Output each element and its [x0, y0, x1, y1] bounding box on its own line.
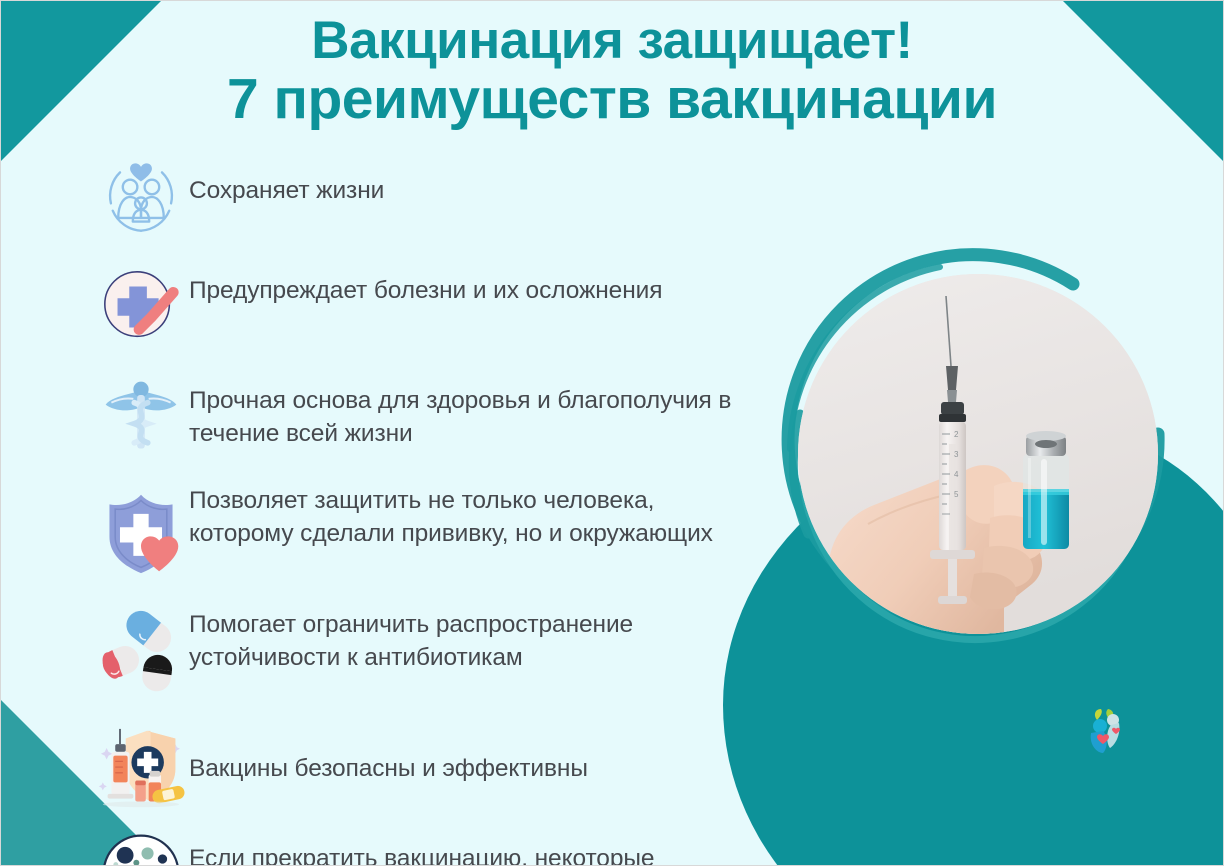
- shield-heart-icon: [93, 479, 189, 587]
- caduceus-icon: [93, 369, 189, 465]
- benefit-item-7: Если прекратить вакцинацию, некоторые ин…: [93, 829, 753, 866]
- benefit-text-5: Помогает ограничить распространение усто…: [189, 601, 753, 675]
- benefit-item-3: Прочная основа для здоровья и благополуч…: [93, 369, 753, 465]
- svg-text:5: 5: [954, 490, 959, 499]
- capsules-icon: [93, 601, 189, 709]
- syringe-shield-icon: [93, 723, 189, 815]
- benefit-text-7: Если прекратить вакцинацию, некоторые ин…: [189, 829, 753, 866]
- virus-petri-dish-icon: [93, 829, 189, 866]
- benefit-text-3: Прочная основа для здоровья и благополуч…: [189, 369, 753, 451]
- photo-frame: 2 3 4 5: [768, 244, 1188, 664]
- title-line-2: 7 преимуществ вакцинации: [151, 69, 1073, 129]
- benefit-item-6: Вакцины безопасны и эффективны: [93, 723, 753, 815]
- benefit-item-2: Предупреждает болезни и их осложнения: [93, 259, 753, 355]
- benefit-text-2: Предупреждает болезни и их осложнения: [189, 259, 662, 308]
- title-line-1: Вакцинация защищает!: [151, 13, 1073, 69]
- poster-title: Вакцинация защищает! 7 преимуществ вакци…: [1, 13, 1223, 130]
- benefit-text-4: Позволяет защитить не только человека, к…: [189, 479, 753, 551]
- svg-text:2: 2: [954, 430, 959, 439]
- photo-illustration: 2 3 4 5: [798, 274, 1158, 634]
- svg-text:3: 3: [954, 450, 959, 459]
- benefit-item-4: Позволяет защитить не только человека, к…: [93, 479, 753, 587]
- svg-text:4: 4: [954, 470, 959, 479]
- vaccination-infographic-poster: Вакцинация защищает! 7 преимуществ вакци…: [0, 0, 1224, 866]
- benefit-text-6: Вакцины безопасны и эффективны: [189, 723, 588, 786]
- health-organization-logo: [1081, 703, 1127, 755]
- benefit-item-1: Сохраняет жизни: [93, 149, 753, 245]
- benefits-list: Сохраняет жизни Предупреждает болезни и …: [93, 149, 753, 866]
- vaccine-vial: [1023, 431, 1069, 549]
- benefit-item-5: Помогает ограничить распространение усто…: [93, 601, 753, 709]
- cross-checkmark-icon: [93, 259, 189, 355]
- family-heart-icon: [93, 149, 189, 245]
- hand-holding-syringe-and-vaccine-vial-photo: 2 3 4 5: [798, 274, 1158, 634]
- benefit-text-1: Сохраняет жизни: [189, 149, 384, 208]
